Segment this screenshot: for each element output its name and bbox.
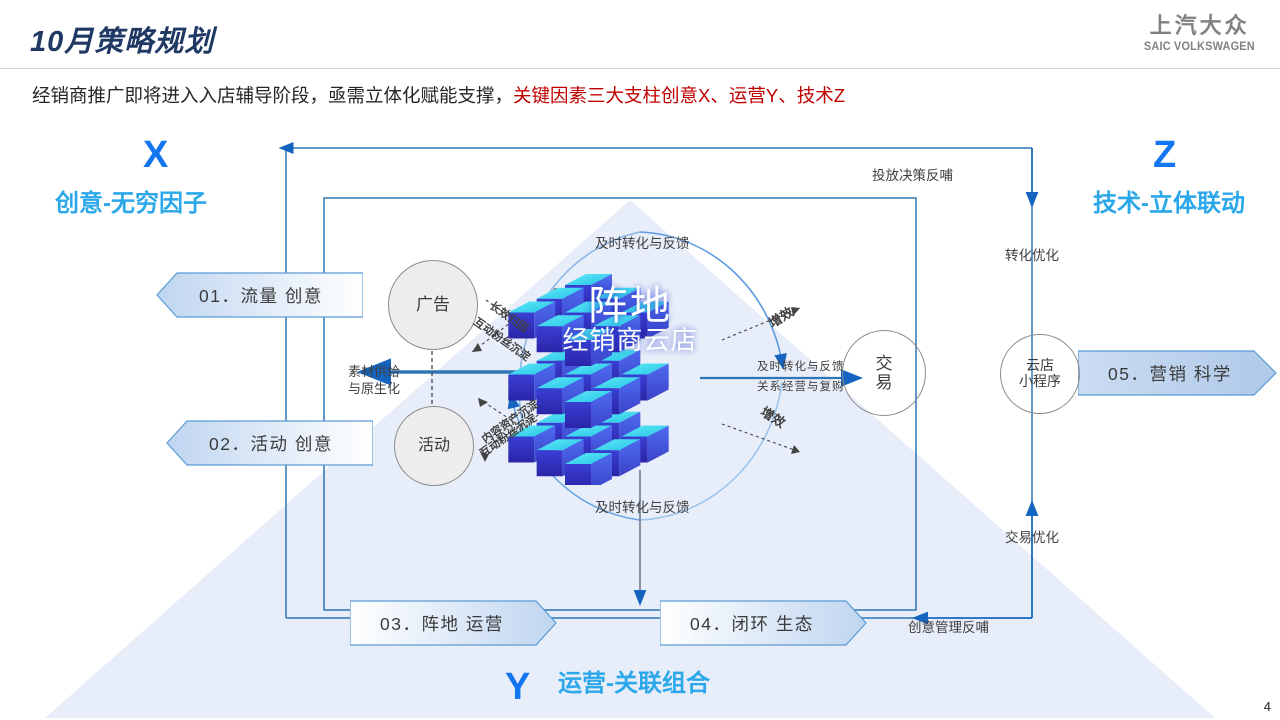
label-trade-opt: 交易优化 <box>1005 530 1059 546</box>
badge-03[interactable]: 03．阵地 运营 <box>350 600 558 646</box>
badge-03-label: 03．阵地 运营 <box>350 611 504 636</box>
cube-title: 阵地 <box>505 285 755 327</box>
axis-letter-x: X <box>143 136 168 174</box>
node-trade-label-2: 易 <box>876 373 893 392</box>
label-feedback-bottom: 创意管理反哺 <box>908 620 989 636</box>
label-feedback-top: 投放决策反哺 <box>872 168 953 184</box>
node-trade[interactable]: 交 易 <box>842 330 926 416</box>
label-mid-1: 及时转化与反馈 <box>757 361 845 375</box>
slide-canvas: 10月策略规划 上汽大众 SAIC VOLKSWAGEN 经销商推广即将进入入店… <box>0 0 1280 720</box>
cube-subtitle: 经销商云店 <box>505 327 755 357</box>
label-conversion-opt: 转化优化 <box>1005 248 1059 264</box>
label-boost-top: 增效 <box>766 304 796 331</box>
subheadline-highlight: 关键因素三大支柱创意X、运营Y、技术Z <box>513 85 845 106</box>
header-divider <box>0 68 1280 69</box>
badge-04[interactable]: 04．闭环 生态 <box>660 600 868 646</box>
label-boost-bottom: 增效 <box>758 404 788 431</box>
node-advertising-label: 广告 <box>416 295 450 314</box>
subheadline-plain: 经销商推广即将进入入店辅导阶段，亟需立体化赋能支撑， <box>32 86 513 107</box>
brand-logo: 上汽大众 SAIC VOLKSWAGEN <box>1141 16 1258 53</box>
node-advertising[interactable]: 广告 <box>388 260 478 350</box>
label-material-2: 与原生化 <box>348 381 400 397</box>
node-activity[interactable]: 活动 <box>394 406 474 486</box>
label-material-1: 素材供给 <box>348 364 400 380</box>
badge-02-label: 02．活动 创意 <box>165 431 333 456</box>
axis-name-z: 技术-立体联动 <box>1093 192 1245 216</box>
axis-name-x: 创意-无穷因子 <box>55 192 207 216</box>
badge-01-label: 01．流量 创意 <box>155 283 323 308</box>
badge-01[interactable]: 01．流量 创意 <box>155 272 363 318</box>
axis-letter-z: Z <box>1153 136 1176 174</box>
page-title: 10月策略规划 <box>30 18 214 60</box>
node-cloud-label-2: 小程序 <box>1019 374 1061 390</box>
label-mid-2: 关系经营与复购 <box>757 381 845 395</box>
label-arc-bottom: 及时转化与反馈 <box>595 500 690 516</box>
node-trade-label-1: 交 <box>876 354 893 373</box>
axis-letter-y: Y <box>505 668 530 706</box>
badge-04-label: 04．闭环 生态 <box>660 611 814 636</box>
axis-name-y: 运营-关联组合 <box>558 672 710 696</box>
badge-05-label: 05．营销 科学 <box>1078 361 1232 386</box>
logo-english: SAIC VOLKSWAGEN <box>1144 41 1255 53</box>
subheadline: 经销商推广即将进入入店辅导阶段，亟需立体化赋能支撑，关键因素三大支柱创意X、运营… <box>32 82 845 108</box>
label-arc-top: 及时转化与反馈 <box>595 236 690 252</box>
node-cloud-label-1: 云店 <box>1026 358 1054 374</box>
node-activity-label: 活动 <box>418 437 450 455</box>
page-number: 4 <box>1264 699 1271 714</box>
node-cloud-store[interactable]: 云店 小程序 <box>1000 334 1080 414</box>
badge-05[interactable]: 05．营销 科学 <box>1078 350 1278 396</box>
logo-chinese: 上汽大众 <box>1141 16 1258 38</box>
cube-center-text: 阵地 经销商云店 <box>505 285 755 357</box>
badge-02[interactable]: 02．活动 创意 <box>165 420 373 466</box>
